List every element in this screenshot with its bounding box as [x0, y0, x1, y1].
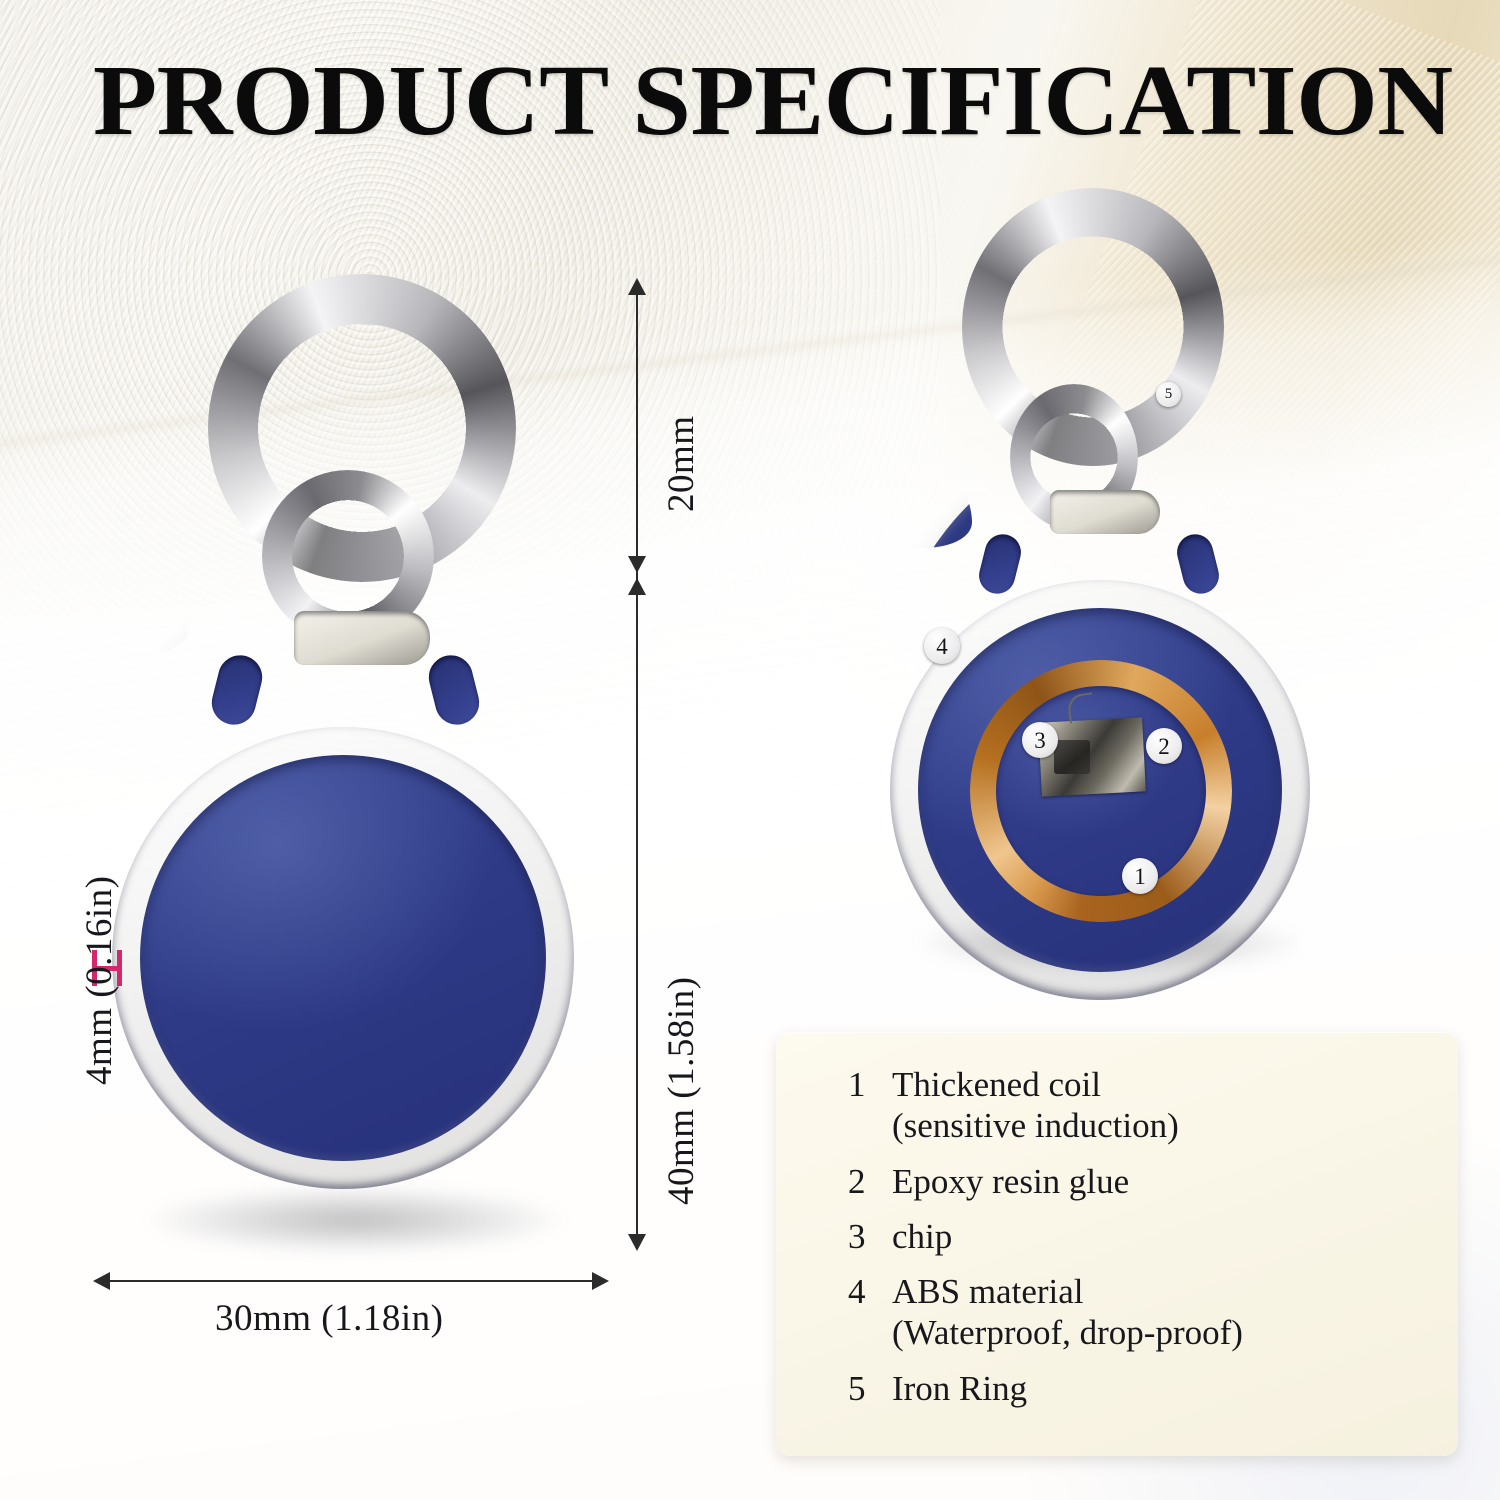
dimension-height-upper-label: 20mm — [660, 415, 703, 512]
left-keyfob — [88, 555, 596, 1245]
legend-item-number: 1 — [848, 1064, 892, 1105]
legend-item-label: ABS material (Waterproof, drop-proof) — [892, 1271, 1243, 1354]
legend-item-label: Thickened coil (sensitive induction) — [892, 1064, 1179, 1147]
legend-item-number: 3 — [848, 1216, 892, 1257]
callout-4-abs-material: 4 — [924, 628, 960, 664]
dimension-arrow-top — [628, 278, 646, 295]
dimension-width-label: 30mm (1.18in) — [215, 1297, 443, 1340]
legend-item-number: 5 — [848, 1368, 892, 1409]
legend-item-label: chip — [892, 1216, 952, 1257]
product-specification-page: PRODUCT SPECIFICATION 4mm — [0, 0, 1500, 1500]
right-keyfob-dimple-left — [975, 531, 1024, 598]
legend-item: 5 Iron Ring — [848, 1368, 1430, 1409]
left-keyfob-face — [140, 755, 546, 1161]
legend-item: 3 chip — [848, 1216, 1430, 1257]
rfid-chip-die — [1054, 740, 1090, 774]
callout-5-iron-ring: 5 — [1156, 382, 1181, 407]
legend-panel: 1 Thickened coil (sensitive induction) 2… — [776, 1032, 1458, 1456]
legend-item-number: 4 — [848, 1271, 892, 1312]
dimension-vertical-line — [636, 292, 638, 1242]
left-keyfob-ring-slot — [294, 611, 430, 665]
legend-item-label: Epoxy resin glue — [892, 1161, 1129, 1202]
dimension-height-total-label: 40mm (1.58in) — [660, 977, 703, 1205]
right-keyfob — [872, 448, 1330, 972]
callout-2-epoxy-resin: 2 — [1146, 728, 1182, 764]
callout-1-coil: 1 — [1122, 858, 1158, 894]
page-title: PRODUCT SPECIFICATION — [93, 50, 1476, 151]
dimension-arrow-mid-up — [628, 578, 646, 595]
dimension-arrow-right — [592, 1272, 609, 1290]
right-keyfob-dimple-right — [1173, 531, 1222, 598]
dimension-arrow-left — [93, 1272, 110, 1290]
dimension-width-line — [108, 1280, 594, 1282]
dimension-arrow-mid-down — [628, 556, 646, 573]
right-keyfob-ring-slot — [1050, 490, 1160, 534]
left-keyfob-dimple-right — [424, 651, 484, 730]
left-keyfob-dimple-left — [207, 651, 267, 730]
callout-3-chip: 3 — [1022, 722, 1058, 758]
dimension-thickness-label: 4mm (0.16in) — [78, 876, 121, 1085]
dimension-arrow-bottom — [628, 1234, 646, 1251]
legend-item-number: 2 — [848, 1161, 892, 1202]
legend-item: 2 Epoxy resin glue — [848, 1161, 1430, 1202]
legend-item-label: Iron Ring — [892, 1368, 1027, 1409]
legend-item: 1 Thickened coil (sensitive induction) — [848, 1064, 1430, 1147]
legend-item: 4 ABS material (Waterproof, drop-proof) — [848, 1271, 1430, 1354]
